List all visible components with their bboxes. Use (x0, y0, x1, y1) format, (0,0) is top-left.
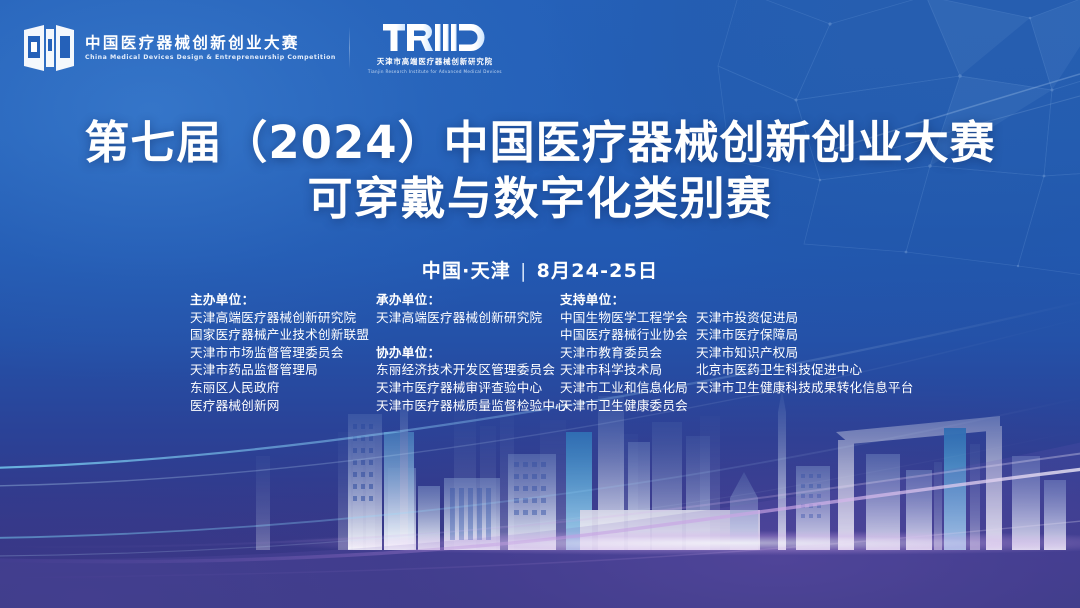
trimd-logo[interactable]: 天津市高端医疗器械创新研究院 Tianjin Research Institut… (368, 22, 502, 74)
cmdc-logo-en: China Medical Devices Design & Entrepren… (85, 54, 336, 61)
organizer-item: 北京市医药卫生科技促进中心 (696, 361, 914, 379)
open-door-icon (22, 24, 76, 72)
organizer-item: 天津市科学技术局 (560, 361, 696, 379)
title-line-2: 可穿戴与数字化类别赛 (0, 172, 1080, 225)
organizer-item: 中国医疗器械行业协会 (560, 326, 696, 344)
title-line-1: 第七届（2024）中国医疗器械创新创业大赛 (0, 118, 1080, 168)
poster-titles: 第七届（2024）中国医疗器械创新创业大赛 可穿戴与数字化类别赛 (0, 118, 1080, 225)
organizer-item: 天津市医疗保障局 (696, 326, 914, 344)
organizer-item: 天津市药品监督管理局 (190, 361, 376, 379)
logo-divider (349, 27, 350, 69)
event-date: 8月24-25日 (537, 260, 659, 282)
trimd-logo-en: Tianjin Research Institute for Advanced … (368, 69, 502, 74)
cmdc-logo[interactable]: 中国医疗器械创新创业大赛 China Medical Devices Desig… (22, 24, 331, 72)
organizer-group-heading: 承办单位： (376, 291, 560, 309)
organizer-item: 天津高端医疗器械创新研究院 (190, 309, 376, 327)
organizer-item: 天津市教育委员会 (560, 344, 696, 362)
organizer-item: 中国生物医学工程学会 (560, 309, 696, 327)
organizer-item: 天津市知识产权局 (696, 344, 914, 362)
organizer-item: 天津市卫生健康科技成果转化信息平台 (696, 379, 914, 397)
organizer-item: 国家医疗器械产业技术创新联盟 (190, 326, 376, 344)
organizer-column-2: 承办单位：天津高端医疗器械创新研究院协办单位：东丽经济技术开发区管理委员会天津市… (376, 291, 560, 414)
organizer-item: 天津市市场监督管理委员会 (190, 344, 376, 362)
organizer-group-heading: 支持单位： (560, 291, 696, 309)
organizer-item: 天津市工业和信息化局 (560, 379, 696, 397)
event-poster: 中国医疗器械创新创业大赛 China Medical Devices Desig… (0, 0, 1080, 608)
organizer-item: 天津高端医疗器械创新研究院 (376, 309, 560, 327)
organizer-item: 东丽经济技术开发区管理委员会 (376, 361, 560, 379)
organizer-item: 医疗器械创新网 (190, 397, 376, 415)
trimd-wordmark-icon (383, 22, 487, 53)
organizer-item: 天津市卫生健康委员会 (560, 397, 696, 415)
trimd-logo-cn: 天津市高端医疗器械创新研究院 (377, 56, 493, 67)
subtitle-separator: | (520, 260, 528, 282)
organizer-item: 天津市医疗器械质量监督检验中心 (376, 397, 560, 415)
organizer-column-3: 支持单位：中国生物医学工程学会中国医疗器械行业协会天津市教育委员会天津市科学技术… (560, 291, 696, 414)
header-logos: 中国医疗器械创新创业大赛 China Medical Devices Desig… (22, 22, 502, 74)
organizer-group-spacer (376, 326, 560, 344)
cmdc-logo-text: 中国医疗器械创新创业大赛 China Medical Devices Desig… (85, 35, 331, 60)
organizer-group-heading: 主办单位： (190, 291, 376, 309)
organizer-columns: 主办单位：天津高端医疗器械创新研究院国家医疗器械产业技术创新联盟天津市市场监督管… (190, 291, 990, 414)
event-location: 中国·天津 (422, 260, 511, 282)
organizer-item: 天津市投资促进局 (696, 309, 914, 327)
organizer-column-4: 天津市投资促进局天津市医疗保障局天津市知识产权局北京市医药卫生科技促进中心天津市… (696, 291, 914, 397)
organizer-item: 东丽区人民政府 (190, 379, 376, 397)
event-subtitle: 中国·天津|8月24-25日 (0, 256, 1080, 283)
organizer-group-heading: 协办单位： (376, 344, 560, 362)
cmdc-logo-cn: 中国医疗器械创新创业大赛 (85, 35, 331, 51)
organizer-column-1: 主办单位：天津高端医疗器械创新研究院国家医疗器械产业技术创新联盟天津市市场监督管… (190, 291, 376, 414)
organizer-item: 天津市医疗器械审评查验中心 (376, 379, 560, 397)
skyline-ground-glow (0, 530, 1080, 556)
